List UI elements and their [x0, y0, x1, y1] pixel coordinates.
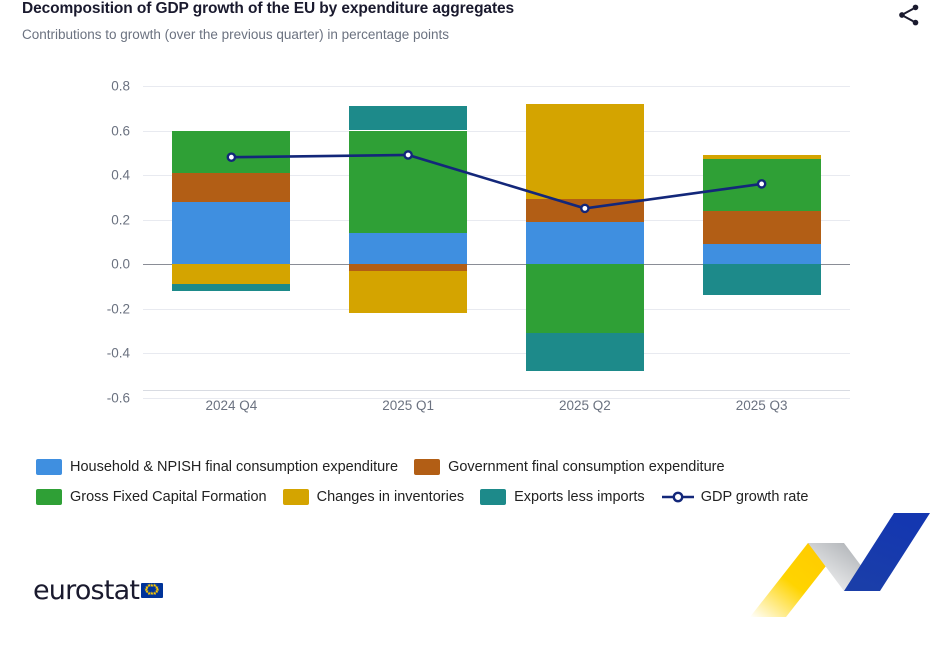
- bar-segment-exports-0[interactable]: [172, 284, 290, 291]
- eurostat-wordmark: eurostat: [33, 575, 139, 606]
- legend-swatch-household: [36, 459, 62, 475]
- legend-item-inventories[interactable]: Changes in inventories: [283, 489, 465, 505]
- gdp-growth-rate-line: [231, 155, 761, 208]
- eurostat-logo: eurostat ★★★★★★★★★★★★: [33, 575, 163, 606]
- legend-label-gfcf: Gross Fixed Capital Formation: [70, 489, 267, 505]
- legend-row-1: Household & NPISH final consumption expe…: [36, 452, 916, 482]
- gridline: [143, 309, 850, 310]
- bar-segment-government-2[interactable]: [526, 199, 644, 221]
- bar-segment-exports-3[interactable]: [703, 264, 821, 295]
- bar-segment-gfcf-2[interactable]: [526, 264, 644, 333]
- bar-segment-household-1[interactable]: [349, 233, 467, 264]
- x-axis-tick-label: 2025 Q1: [328, 398, 488, 413]
- bar-segment-government-3[interactable]: [703, 211, 821, 244]
- bar-segment-gfcf-0[interactable]: [172, 131, 290, 173]
- x-axis-line: [143, 390, 850, 391]
- bar-segment-government-0[interactable]: [172, 173, 290, 202]
- y-axis-tick-label: 0.6: [78, 123, 130, 138]
- eu-flag-icon: ★★★★★★★★★★★★: [141, 583, 163, 598]
- legend-swatch-gfcf: [36, 489, 62, 505]
- legend-item-government[interactable]: Government final consumption expenditure: [414, 459, 724, 475]
- legend-label-gdp-growth-rate: GDP growth rate: [701, 489, 809, 505]
- bar-segment-gfcf-1[interactable]: [349, 131, 467, 233]
- legend-label-inventories: Changes in inventories: [317, 489, 465, 505]
- bar-segment-exports-1[interactable]: [349, 106, 467, 130]
- eurostat-checkmark-logo: [720, 505, 930, 617]
- bar-segment-inventories-0[interactable]: [172, 264, 290, 284]
- legend-swatch-government: [414, 459, 440, 475]
- y-axis-tick-label: 0.8: [78, 79, 130, 94]
- eu-flag-star: ★: [147, 584, 151, 589]
- y-axis-tick-label: 0.2: [78, 212, 130, 227]
- legend-line-marker-gdp: [661, 489, 695, 505]
- legend-item-gfcf[interactable]: Gross Fixed Capital Formation: [36, 489, 267, 505]
- y-axis-tick-label: -0.4: [78, 346, 130, 361]
- legend-label-household: Household & NPISH final consumption expe…: [70, 459, 398, 475]
- chart-plot-area: 0.80.60.40.20.0-0.2-0.4-0.6 2024 Q42025 …: [0, 0, 930, 440]
- bar-segment-exports-2[interactable]: [526, 333, 644, 371]
- x-axis-tick-label: 2025 Q2: [505, 398, 665, 413]
- x-axis-tick-label: 2025 Q3: [682, 398, 842, 413]
- legend-label-government: Government final consumption expenditure: [448, 459, 724, 475]
- y-axis-tick-label: -0.6: [78, 390, 130, 405]
- legend-item-exports[interactable]: Exports less imports: [480, 489, 645, 505]
- y-axis-tick-label: 0.0: [78, 257, 130, 272]
- bar-segment-gfcf-3[interactable]: [703, 159, 821, 210]
- bar-segment-inventories-3[interactable]: [703, 155, 821, 159]
- y-axis-tick-label: -0.2: [78, 301, 130, 316]
- y-axis-tick-label: 0.4: [78, 168, 130, 183]
- bar-segment-household-2[interactable]: [526, 222, 644, 264]
- legend-label-exports: Exports less imports: [514, 489, 645, 505]
- bar-segment-household-3[interactable]: [703, 244, 821, 264]
- legend-item-household[interactable]: Household & NPISH final consumption expe…: [36, 459, 398, 475]
- chart-legend: Household & NPISH final consumption expe…: [36, 452, 916, 512]
- legend-item-gdp-growth-rate[interactable]: GDP growth rate: [661, 489, 809, 505]
- bar-segment-household-0[interactable]: [172, 202, 290, 264]
- bar-segment-government-1[interactable]: [349, 264, 467, 271]
- legend-swatch-inventories: [283, 489, 309, 505]
- bar-segment-inventories-1[interactable]: [349, 271, 467, 313]
- bar-segment-inventories-2[interactable]: [526, 104, 644, 200]
- gridline: [143, 86, 850, 87]
- x-axis-tick-label: 2024 Q4: [151, 398, 311, 413]
- gridline: [143, 353, 850, 354]
- legend-swatch-exports: [480, 489, 506, 505]
